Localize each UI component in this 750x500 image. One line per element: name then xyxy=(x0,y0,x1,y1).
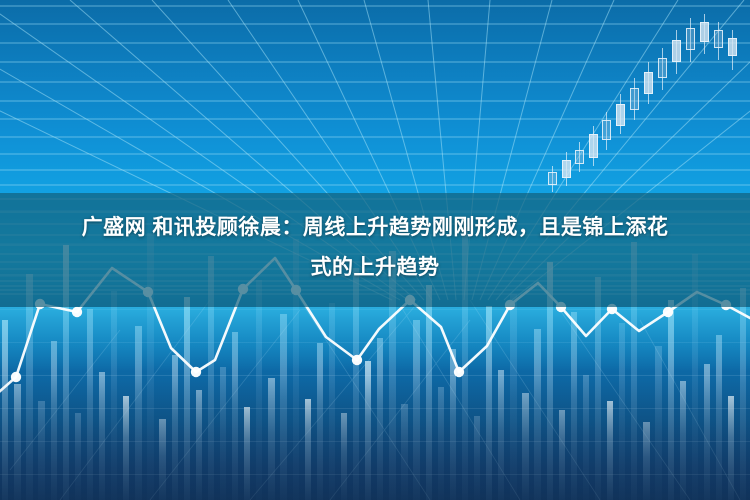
trend-marker xyxy=(721,300,731,310)
banner-title: 广盛网 和讯投顾徐晨：周线上升趋势刚刚形成，且是锦上添花 式的上升趋势 xyxy=(0,208,750,288)
trend-marker xyxy=(11,372,21,382)
trend-marker xyxy=(556,302,566,312)
trend-marker xyxy=(143,287,153,297)
trend-line-markers xyxy=(11,284,731,382)
trend-marker xyxy=(35,299,45,309)
title-line-1: 广盛网 和讯投顾徐晨：周线上升趋势刚刚形成，且是锦上添花 xyxy=(0,208,750,248)
trend-marker xyxy=(454,367,464,377)
trend-marker xyxy=(72,307,82,317)
trend-marker xyxy=(607,304,617,314)
trend-marker xyxy=(405,295,415,305)
trend-marker xyxy=(352,355,362,365)
stock-market-banner: 广盛网 和讯投顾徐晨：周线上升趋势刚刚形成，且是锦上添花 式的上升趋势 xyxy=(0,0,750,500)
title-line-2: 式的上升趋势 xyxy=(0,248,750,288)
trend-marker xyxy=(191,367,201,377)
trend-marker xyxy=(505,300,515,310)
trend-marker xyxy=(663,307,673,317)
